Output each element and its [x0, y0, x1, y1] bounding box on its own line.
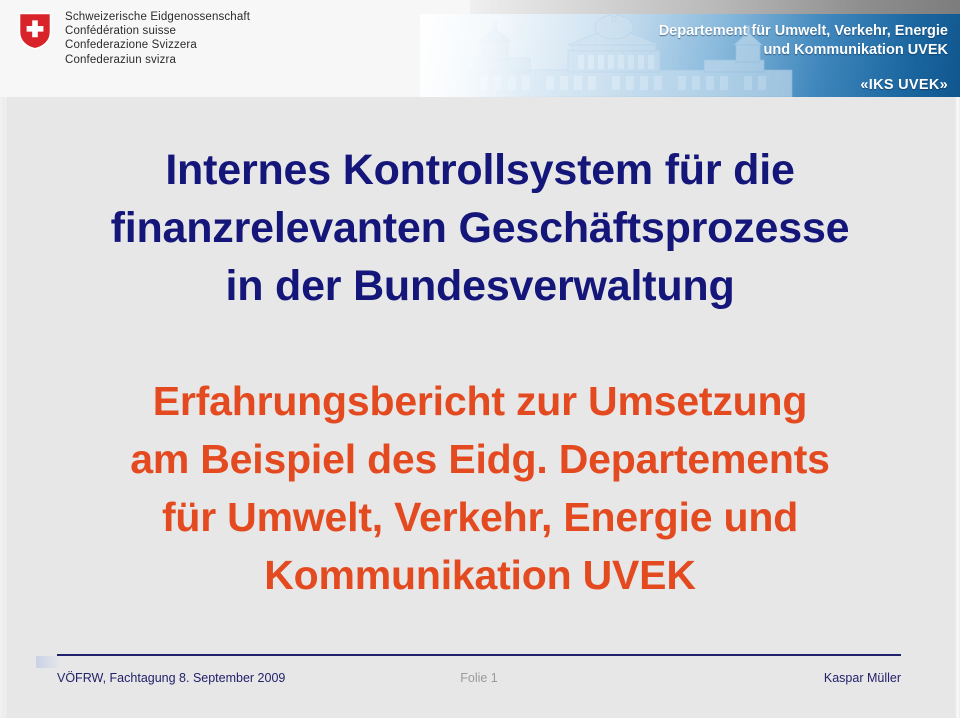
department-title: Departement für Umwelt, Verkehr, Energie…: [659, 22, 948, 60]
title-line-1: Internes Kontrollsystem für die: [40, 141, 920, 199]
confederation-name-rm: Confederaziun svizra: [65, 53, 250, 67]
page-title: Internes Kontrollsystem für die finanzre…: [40, 141, 920, 315]
footer-artifact: [36, 656, 60, 668]
slide-header: Schweizerische Eidgenossenschaft Confédé…: [0, 0, 960, 97]
header-department-banner: Departement für Umwelt, Verkehr, Energie…: [420, 14, 960, 97]
header-silver-strip: [420, 0, 960, 14]
title-line-3: in der Bundesverwaltung: [40, 257, 920, 315]
header-confederation-block: Schweizerische Eidgenossenschaft Confédé…: [0, 0, 470, 97]
page-subtitle: Erfahrungsbericht zur Umsetzung am Beisp…: [34, 372, 926, 604]
subtitle-line-3: für Umwelt, Verkehr, Energie und: [34, 488, 926, 546]
footer-slide-number: Folie 1: [57, 671, 901, 685]
confederation-wordmark: Schweizerische Eidgenossenschaft Confédé…: [65, 10, 250, 67]
title-line-2: finanzrelevanten Geschäftsprozesse: [40, 199, 920, 257]
confederation-name-de: Schweizerische Eidgenossenschaft: [65, 10, 250, 24]
footer-author: Kaspar Müller: [824, 671, 901, 685]
subtitle-line-2: am Beispiel des Eidg. Departements: [34, 430, 926, 488]
project-tag: «IKS UVEK»: [860, 77, 948, 93]
swiss-coat-of-arms-icon: [18, 12, 52, 50]
subtitle-line-4: Kommunikation UVEK: [34, 546, 926, 604]
confederation-name-it: Confederazione Svizzera: [65, 38, 250, 52]
confederation-name-fr: Confédération suisse: [65, 24, 250, 38]
slide-footer: VÖFRW, Fachtagung 8. September 2009 Foli…: [57, 671, 901, 691]
subtitle-line-1: Erfahrungsbericht zur Umsetzung: [34, 372, 926, 430]
footer-divider: [57, 654, 901, 656]
slide-body: Internes Kontrollsystem für die finanzre…: [0, 97, 960, 718]
slide-canvas: Schweizerische Eidgenossenschaft Confédé…: [0, 0, 960, 718]
